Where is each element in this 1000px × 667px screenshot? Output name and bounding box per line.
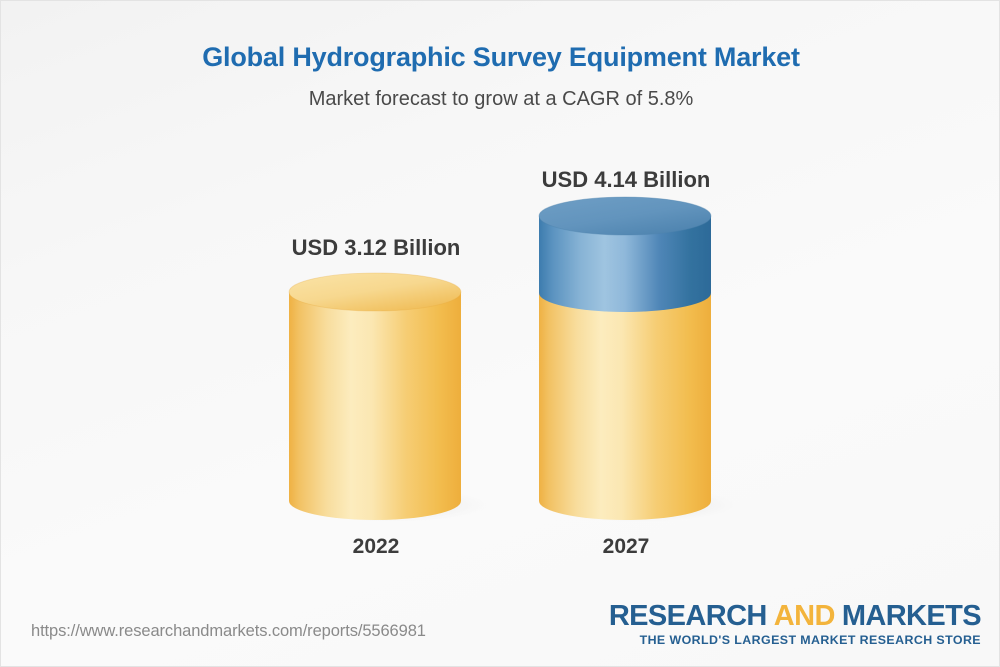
logo-tagline: THE WORLD'S LARGEST MARKET RESEARCH STOR… (609, 634, 981, 648)
source-url[interactable]: https://www.researchandmarkets.com/repor… (31, 622, 426, 641)
logo-word-markets: MARKETS (842, 600, 981, 632)
bar-cylinder-2022-graphic (287, 273, 487, 523)
logo-word-research: RESEARCH (609, 600, 767, 632)
bar-body-2022 (289, 292, 461, 520)
logo-word-and: AND (774, 600, 835, 632)
chart-plot-area: USD 3.12 Billion (1, 1, 1000, 667)
bar-segment-base-2027 (539, 293, 711, 520)
value-label-2022: USD 3.12 Billion (256, 237, 496, 259)
category-label-2027: 2027 (546, 536, 706, 557)
value-label-2027: USD 4.14 Billion (506, 169, 746, 191)
logo-wordmark: RESEARCHANDMARKETS (609, 601, 981, 631)
infographic-canvas: Global Hydrographic Survey Equipment Mar… (0, 0, 1000, 667)
bar-cylinder-2027-graphic (537, 196, 737, 526)
category-label-2022: 2022 (296, 536, 456, 557)
research-and-markets-logo[interactable]: RESEARCHANDMARKETS THE WORLD'S LARGEST M… (609, 601, 981, 648)
bar-cylinder-2027[interactable] (537, 196, 737, 526)
bar-cylinder-2022[interactable] (287, 273, 487, 523)
